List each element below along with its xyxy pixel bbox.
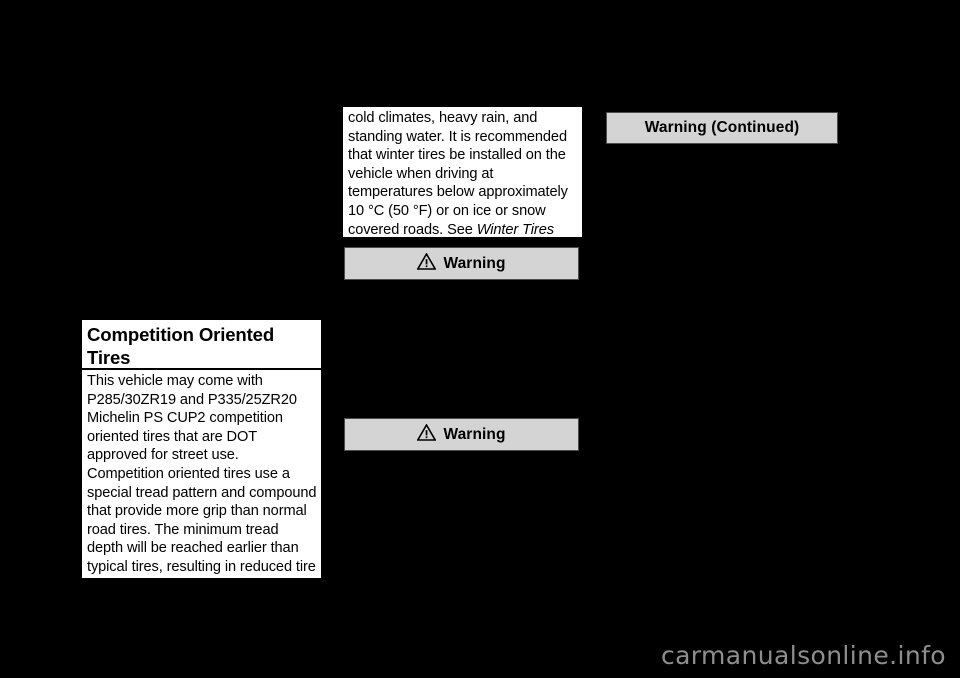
manual-page: Competition Oriented Tires This vehicle … <box>0 0 960 678</box>
warning-triangle-icon <box>417 253 436 275</box>
warning-banner-1-label: Warning <box>443 255 505 273</box>
section-heading-box: Competition Oriented Tires <box>82 320 321 368</box>
continued-body-lead: cold climates, heavy rain, and standing … <box>348 110 568 238</box>
left-column-body-text: This vehicle may come with P285/30ZR19 a… <box>82 370 321 578</box>
page-title: Competition Oriented Tires <box>87 323 316 369</box>
cross-reference-label[interactable]: Winter Tires <box>477 222 554 238</box>
warning-continued-banner: Warning (Continued) <box>606 112 838 144</box>
warning-triangle-icon <box>417 424 436 446</box>
warning-banner-2: Warning <box>344 418 579 451</box>
warning-continued-label: Warning (Continued) <box>645 119 800 137</box>
site-watermark: carmanualsonline.info <box>661 641 946 670</box>
warning-banner-2-label: Warning <box>443 426 505 444</box>
middle-column-continued-text: cold climates, heavy rain, and standing … <box>343 107 582 237</box>
warning-banner-1: Warning <box>344 247 579 280</box>
